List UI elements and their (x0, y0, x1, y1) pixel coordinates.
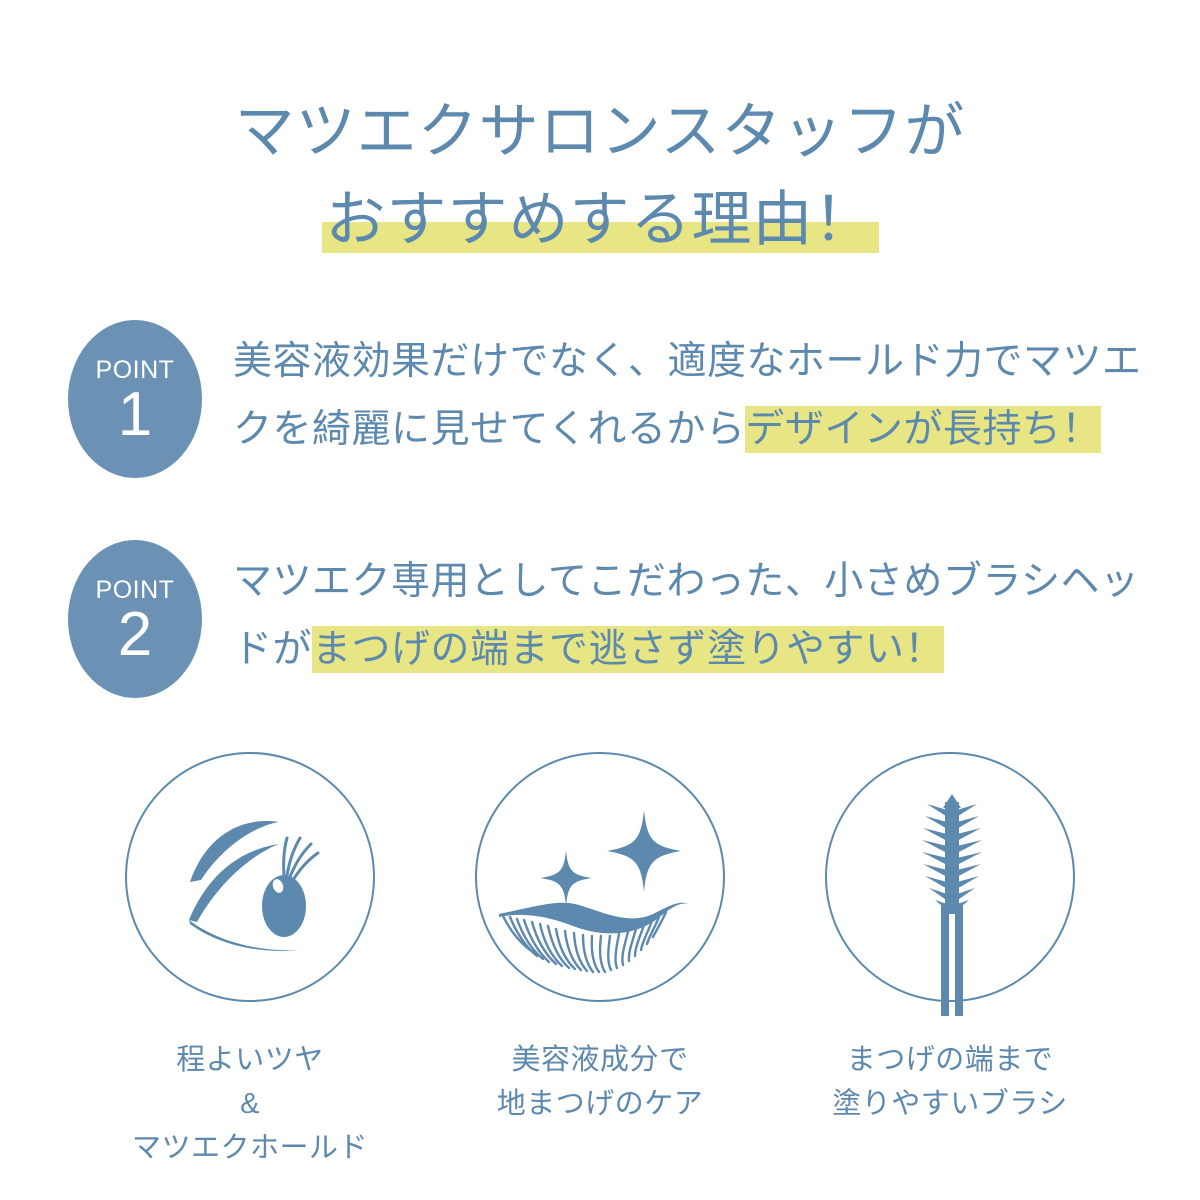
feature-circle-3 (825, 752, 1075, 1002)
point-1-line-2-plain: クを綺麗に見せてくれるから (233, 408, 745, 451)
feature-caption-3-line-1: まつげの端まで (832, 1038, 1067, 1082)
feature-circle-1 (125, 752, 375, 1002)
point-1-line-1: 美容液効果だけでなく、適度なホールド力でマツエ (233, 328, 1173, 396)
feature-caption-1-line-2: & (132, 1082, 368, 1126)
point-badge-1: POINT 1 (68, 320, 202, 478)
feature-caption-3-line-2: 塗りやすいブラシ (832, 1082, 1067, 1126)
point-badge-number-1: 1 (118, 385, 152, 445)
title-highlight: おすすめする理由！ (322, 186, 879, 253)
point-1-line-2: クを綺麗に見せてくれるからデザインが長持ち！ (233, 396, 1173, 464)
point-row-1: POINT 1 美容液効果だけでなく、適度なホールド力でマツエ クを綺麗に見せて… (0, 320, 1200, 480)
closed-eye-sparkle-icon (477, 754, 727, 1004)
feature-caption-2: 美容液成分で 地まつげのケア (497, 1038, 704, 1126)
feature-caption-1-line-1: 程よいツヤ (132, 1038, 368, 1082)
feature-circle-2 (475, 752, 725, 1002)
point-badge-2: POINT 2 (68, 540, 202, 698)
point-2-line-1: マツエク専用としてこだわった、小さめブラシヘッ (233, 548, 1173, 616)
feature-caption-3: まつげの端まで 塗りやすいブラシ (832, 1038, 1067, 1126)
feature-item-3: まつげの端まで 塗りやすいブラシ (820, 752, 1080, 1170)
feature-caption-1-line-3: マツエクホールド (132, 1126, 368, 1170)
feature-caption-2-line-2: 地まつげのケア (497, 1082, 704, 1126)
feature-caption-1: 程よいツヤ & マツエクホールド (132, 1038, 368, 1170)
point-text-2: マツエク専用としてこだわった、小さめブラシヘッ ドがまつげの端まで逃さず塗りやす… (233, 548, 1173, 684)
point-1-highlight: デザインが長持ち！ (745, 406, 1101, 453)
point-2-line-2-plain: ドが (233, 628, 312, 671)
point-2-highlight: まつげの端まで逃さず塗りやすい！ (312, 626, 944, 673)
eye-with-lashes-icon (127, 754, 377, 1004)
feature-caption-2-line-1: 美容液成分で (497, 1038, 704, 1082)
title-line-2: おすすめする理由！ (0, 174, 1200, 266)
feature-list: 程よいツヤ & マツエクホールド (0, 752, 1200, 1170)
feature-item-1: 程よいツヤ & マツエクホールド (120, 752, 380, 1170)
page-title: マツエクサロンスタッフが おすすめする理由！ (0, 86, 1200, 266)
mascara-wand-icon (827, 754, 1077, 1004)
title-line-1: マツエクサロンスタッフが (0, 86, 1200, 178)
point-text-1: 美容液効果だけでなく、適度なホールド力でマツエ クを綺麗に見せてくれるからデザイ… (233, 328, 1173, 464)
point-row-2: POINT 2 マツエク専用としてこだわった、小さめブラシヘッ ドがまつげの端ま… (0, 540, 1200, 700)
feature-item-2: 美容液成分で 地まつげのケア (470, 752, 730, 1170)
point-2-line-2: ドがまつげの端まで逃さず塗りやすい！ (233, 616, 1173, 684)
point-badge-number-2: 2 (118, 605, 152, 665)
